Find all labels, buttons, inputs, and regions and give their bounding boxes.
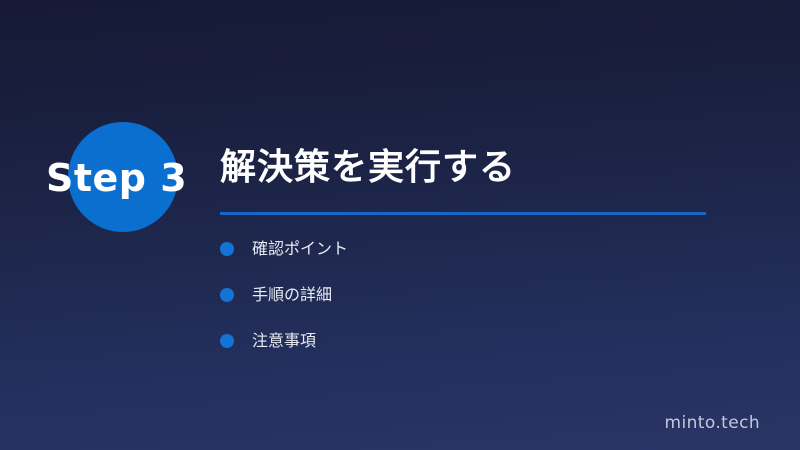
bullet-item-label: 確認ポイント [252, 240, 348, 257]
heading-block: 解決策を実行する [220, 144, 760, 215]
title-divider [220, 212, 706, 215]
step-badge-label: Step 3 [46, 154, 206, 202]
bullet-list: 確認ポイント 手順の詳細 注意事項 [220, 240, 348, 378]
bullet-item-label: 注意事項 [252, 332, 316, 349]
bullet-dot-icon [220, 242, 234, 256]
list-item: 確認ポイント [220, 240, 348, 257]
slide-canvas: Step 3 解決策を実行する 確認ポイント 手順の詳細 注意事項 minto.… [0, 0, 800, 450]
list-item: 手順の詳細 [220, 286, 348, 303]
bullet-item-label: 手順の詳細 [252, 286, 332, 303]
bullet-dot-icon [220, 288, 234, 302]
slide-title: 解決策を実行する [220, 144, 760, 192]
list-item: 注意事項 [220, 332, 348, 349]
bullet-dot-icon [220, 334, 234, 348]
watermark-label: minto.tech [665, 412, 760, 434]
